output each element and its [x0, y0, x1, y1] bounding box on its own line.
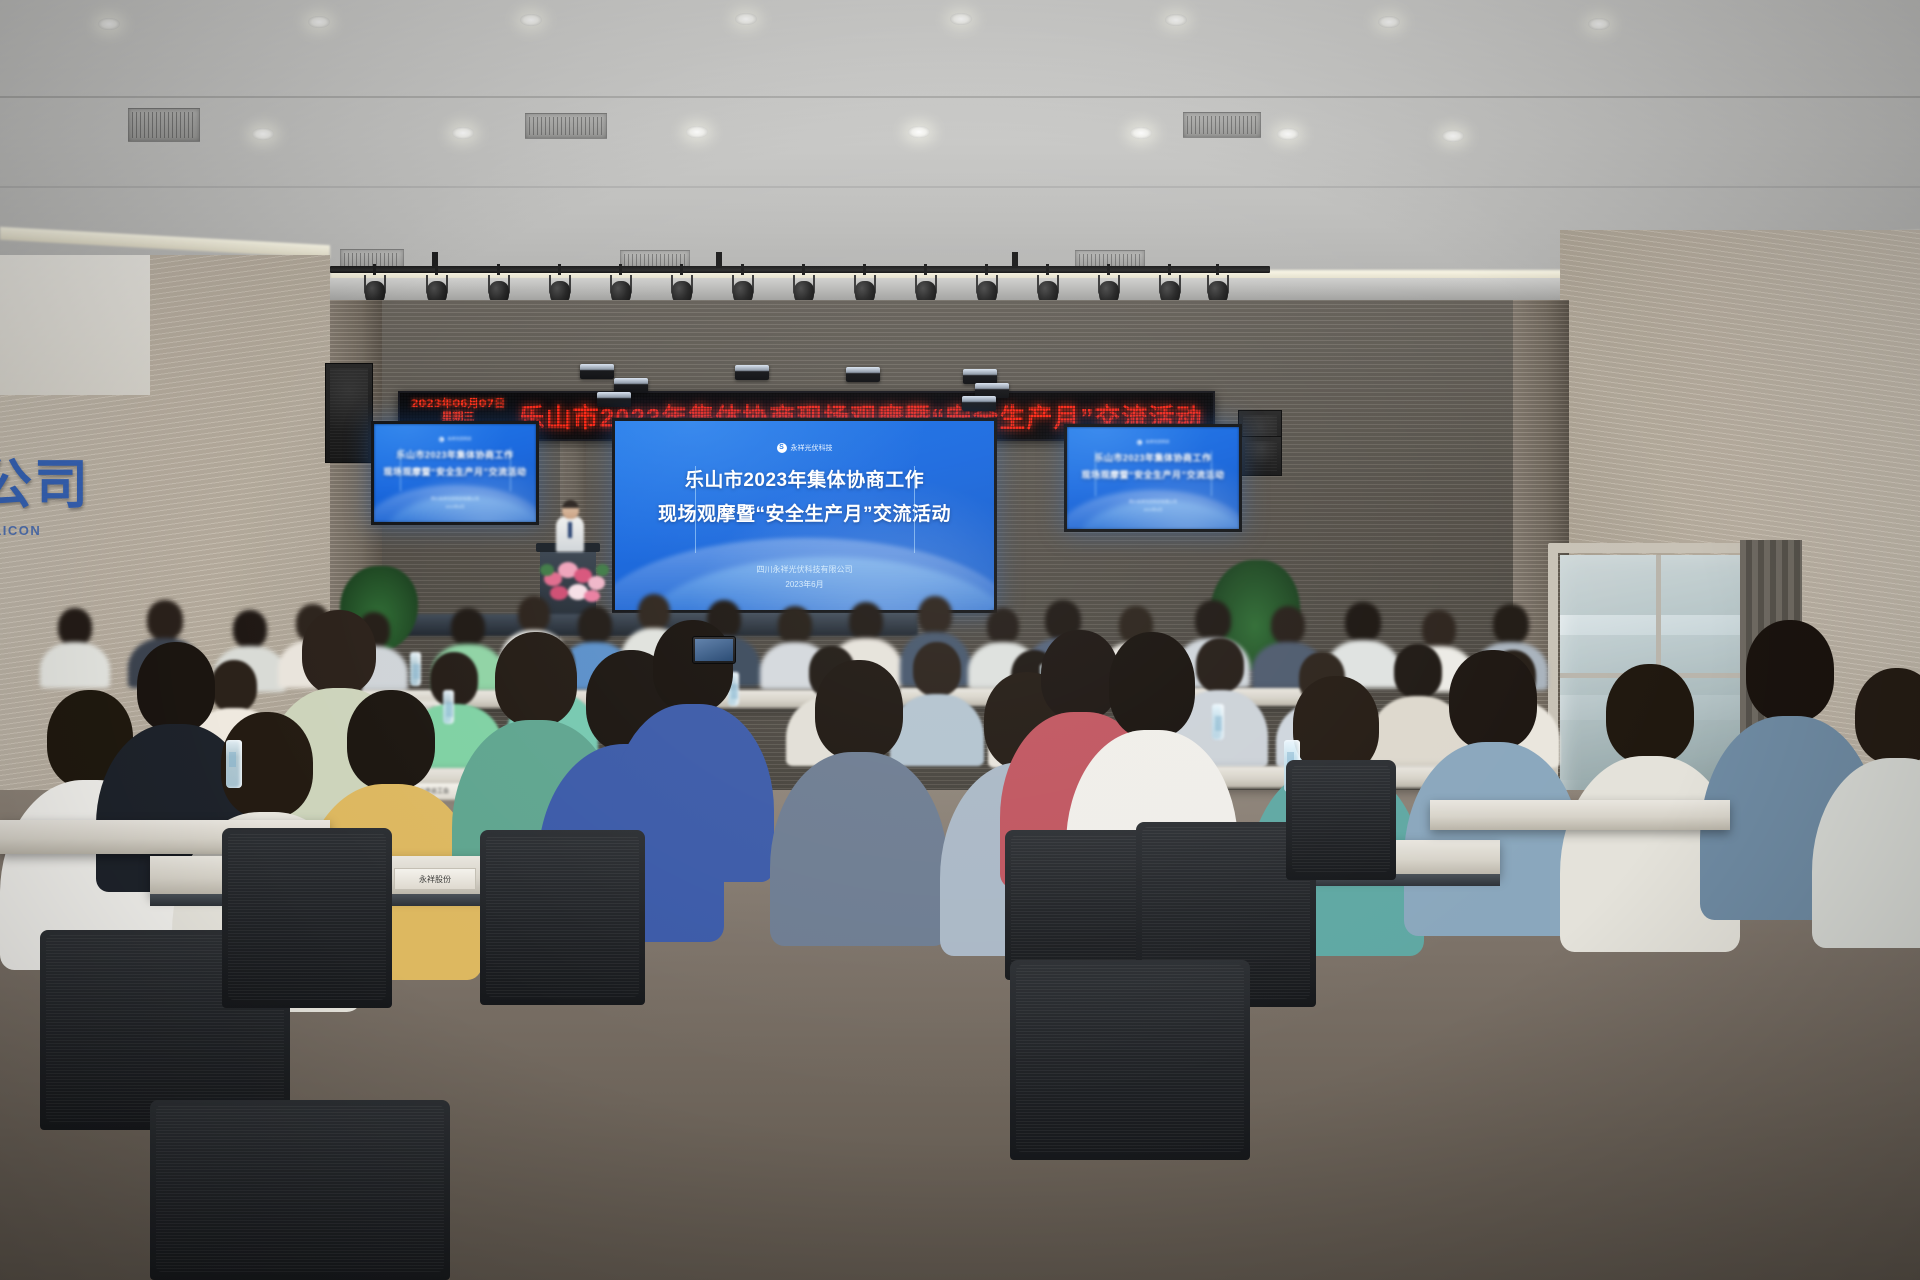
nameplate: 永祥股份: [394, 868, 476, 890]
slide-title-line1: 乐山市2023年集体协商工作: [1094, 451, 1211, 464]
downlight: [735, 13, 757, 25]
ceiling-seam: [0, 96, 1920, 98]
chair[interactable]: [1005, 830, 1145, 980]
stage-spot: [597, 392, 631, 407]
slide-title-line1: 乐山市2023年集体协商工作: [396, 448, 513, 461]
downlight: [1588, 18, 1610, 30]
ceiling-seam: [0, 186, 1920, 188]
lighting-track: [330, 266, 1270, 273]
led-date: 2023年06月07日: [408, 397, 508, 410]
chair[interactable]: [222, 828, 392, 1008]
downlight: [950, 13, 972, 25]
downlight: [1130, 127, 1152, 139]
downlight: [452, 127, 474, 139]
logo-mark-icon: S: [1137, 440, 1142, 445]
ceiling-vent: [128, 108, 200, 142]
wall-company-sign: 公司 SILICON: [0, 440, 98, 536]
ceiling-vent: [525, 113, 607, 139]
stage-spot: [580, 364, 614, 379]
slide-main: S 永祥光伏科技 乐山市2023年集体协商工作 现场观摩暨“安全生产月”交流活动…: [615, 421, 994, 610]
slide-logo: S 永祥光伏科技: [777, 443, 833, 453]
slide-title-line2: 现场观摩暨“安全生产月”交流活动: [1081, 468, 1224, 481]
slide-logo-text: 永祥光伏科技: [791, 443, 833, 453]
downlight: [308, 16, 330, 28]
ceiling-vent: [1183, 112, 1261, 138]
stage-spot: [735, 365, 769, 380]
track-stem: [716, 252, 722, 268]
slide-left: S 永祥光伏科技 乐山市2023年集体协商工作 现场观摩暨“安全生产月”交流活动…: [374, 424, 536, 522]
stage-spot: [963, 369, 997, 384]
chair[interactable]: [150, 1100, 450, 1280]
chair[interactable]: [1010, 960, 1250, 1160]
downlight: [686, 126, 708, 138]
loudspeaker-left: [325, 363, 373, 463]
downlight: [1165, 14, 1187, 26]
wall-sign-cn: 公司: [0, 440, 98, 519]
chair[interactable]: [480, 830, 645, 1005]
slide-logo-text: 永祥光伏科技: [1146, 439, 1170, 445]
slide-logo-text: 永祥光伏科技: [448, 436, 472, 442]
slide-title-line2: 现场观摩暨“安全生产月”交流活动: [658, 499, 951, 526]
presenter-tie: [568, 522, 572, 538]
downlight: [520, 14, 542, 26]
slide-title-line1: 乐山市2023年集体协商工作: [685, 465, 924, 492]
chair[interactable]: [1286, 760, 1396, 880]
slide-logo: S 永祥光伏科技: [1137, 439, 1170, 445]
side-screen-right: S 永祥光伏科技 乐山市2023年集体协商工作 现场观摩暨“安全生产月”交流活动…: [1064, 424, 1242, 532]
downlight: [1378, 16, 1400, 28]
water-bottle: [226, 740, 242, 788]
downlight: [98, 18, 120, 30]
stage-spot: [614, 378, 648, 393]
person: [1812, 668, 1920, 948]
person: [770, 660, 948, 946]
slide-right: S 永祥光伏科技 乐山市2023年集体协商工作 现场观摩暨“安全生产月”交流活动…: [1067, 427, 1239, 529]
downlight: [1277, 128, 1299, 140]
conference-room-scene: 公司 SILICON 2023年06月07日 星期三 14:26:46 乐山市2…: [0, 0, 1920, 1280]
downlight: [252, 128, 274, 140]
stage-spot: [846, 367, 880, 382]
logo-mark-icon: S: [777, 443, 787, 453]
main-projection-screen: S 永祥光伏科技 乐山市2023年集体协商工作 现场观摩暨“安全生产月”交流活动…: [612, 418, 997, 613]
left-wall-panel: [0, 255, 150, 395]
person: [1404, 650, 1582, 936]
slide-title-line2: 现场观摩暨“安全生产月”交流活动: [383, 465, 526, 478]
smartphone[interactable]: [692, 636, 736, 664]
loudspeaker-right-lower: [1240, 436, 1282, 476]
downlight: [1442, 130, 1464, 142]
stage-spot: [962, 396, 996, 411]
side-screen-left: S 永祥光伏科技 乐山市2023年集体协商工作 现场观摩暨“安全生产月”交流活动…: [371, 421, 539, 525]
wall-sign-en: SILICON: [0, 523, 98, 538]
table-row-front: [1430, 800, 1730, 830]
slide-logo: S 永祥光伏科技: [439, 436, 472, 442]
downlight: [908, 126, 930, 138]
track-stem: [1012, 252, 1018, 268]
presenter-head: [562, 500, 579, 519]
logo-mark-icon: S: [439, 437, 444, 442]
